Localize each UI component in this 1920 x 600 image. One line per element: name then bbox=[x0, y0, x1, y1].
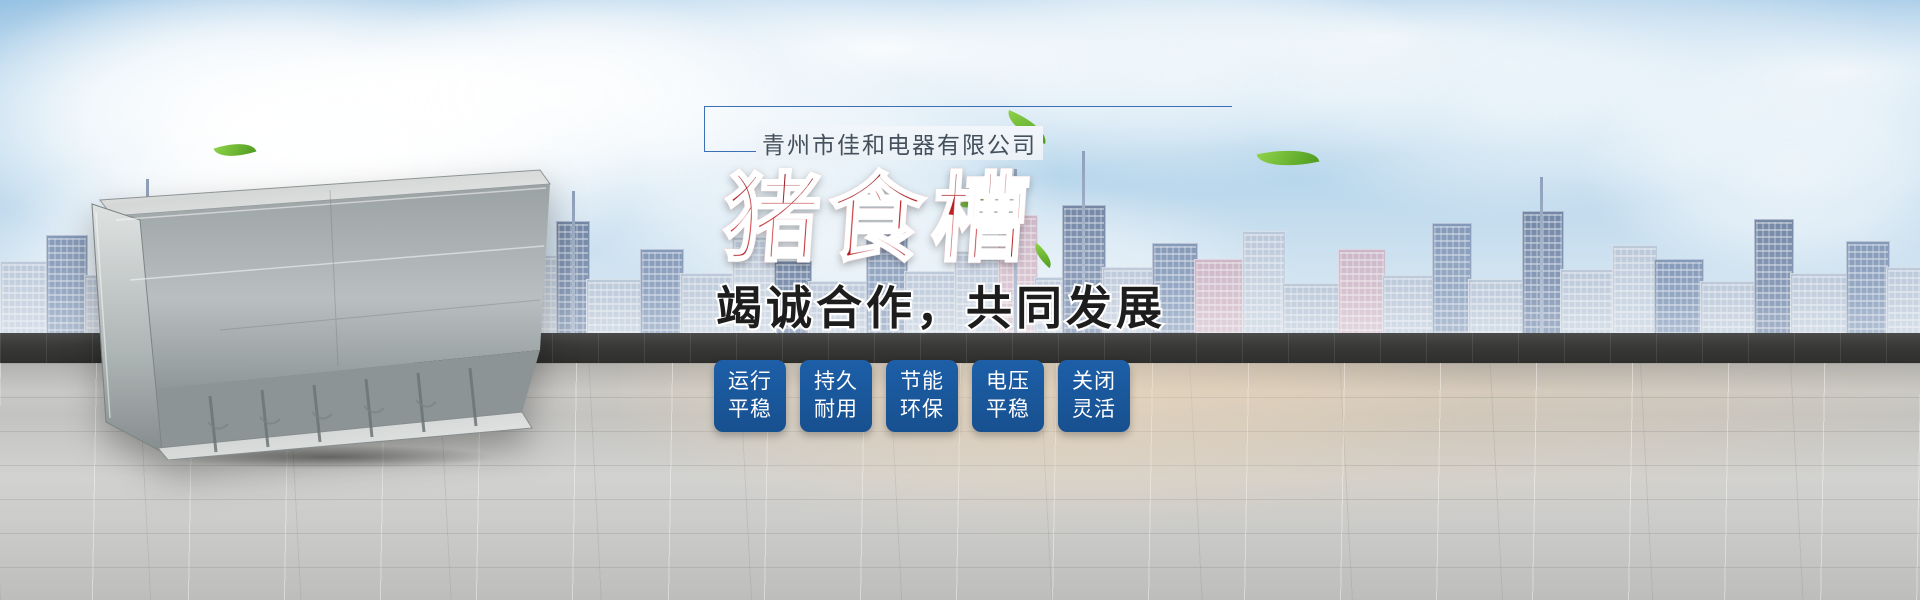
banner-stage: 青州市佳和电器有限公司 猪食槽 竭诚合作，共同发展 运行 平稳 持久 耐用 节能… bbox=[0, 0, 1920, 600]
badge-line-2: 平稳 bbox=[728, 396, 772, 423]
badge-line-2: 平稳 bbox=[986, 396, 1030, 423]
badge-line-2: 耐用 bbox=[814, 396, 858, 423]
feature-badge[interactable]: 运行 平稳 bbox=[714, 360, 786, 432]
product-image-pig-trough bbox=[70, 160, 580, 460]
badge-line-1: 节能 bbox=[900, 368, 944, 395]
badge-line-1: 运行 bbox=[728, 368, 772, 395]
feature-badge[interactable]: 关闭 灵活 bbox=[1058, 360, 1130, 432]
badge-line-2: 环保 bbox=[900, 396, 944, 423]
badge-line-1: 电压 bbox=[986, 368, 1030, 395]
slogan-text: 竭诚合作，共同发展 bbox=[700, 272, 1260, 338]
feature-badge[interactable]: 电压 平稳 bbox=[972, 360, 1044, 432]
brand-frame-top-rule bbox=[1022, 106, 1232, 107]
page-title: 猪食槽 bbox=[696, 168, 1263, 270]
badge-line-1: 持久 bbox=[814, 368, 858, 395]
brand-frame-wrapper: 青州市佳和电器有限公司 bbox=[700, 96, 1260, 162]
company-name: 青州市佳和电器有限公司 bbox=[756, 126, 1043, 160]
feature-badge[interactable]: 持久 耐用 bbox=[800, 360, 872, 432]
feature-badge-list: 运行 平稳 持久 耐用 节能 环保 电压 平稳 关闭 灵活 bbox=[700, 360, 1260, 432]
badge-line-1: 关闭 bbox=[1072, 368, 1116, 395]
badge-line-2: 灵活 bbox=[1072, 396, 1116, 423]
banner-copy: 青州市佳和电器有限公司 猪食槽 竭诚合作，共同发展 运行 平稳 持久 耐用 节能… bbox=[700, 96, 1260, 432]
feature-badge[interactable]: 节能 环保 bbox=[886, 360, 958, 432]
